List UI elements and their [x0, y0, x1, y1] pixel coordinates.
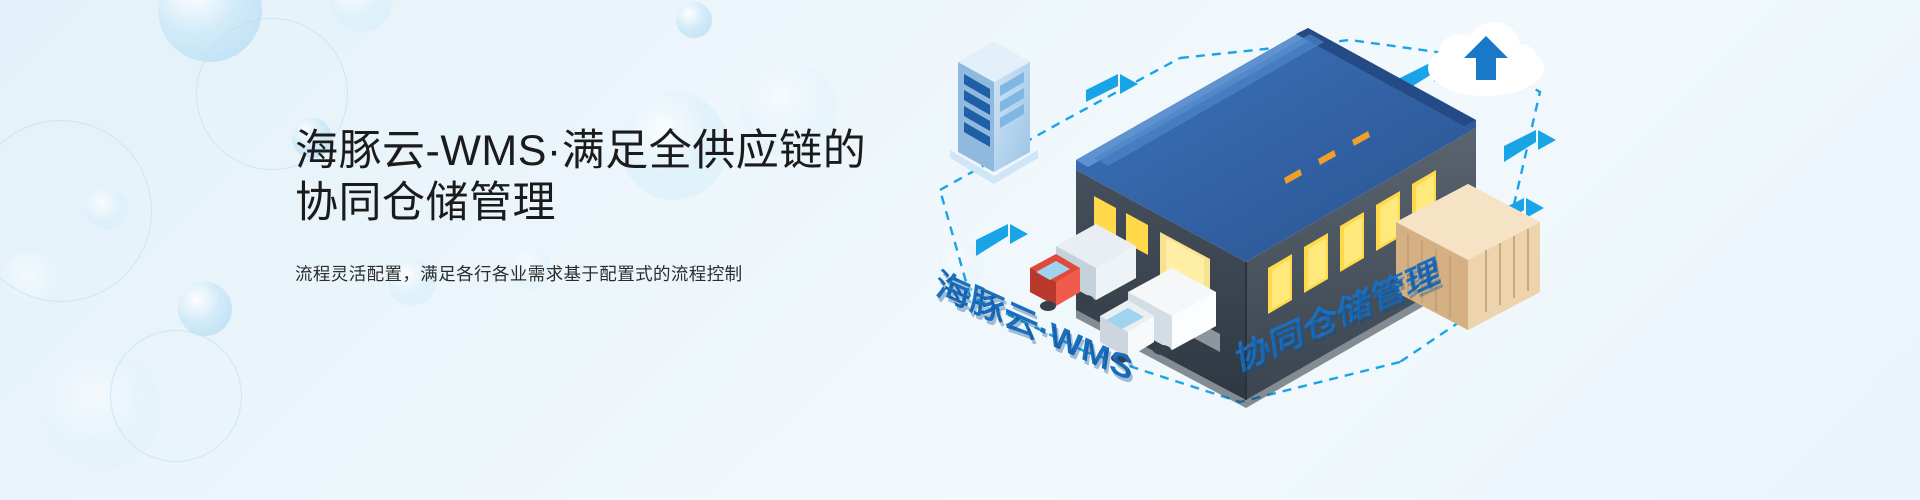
bubble-icon: [676, 2, 712, 38]
hero-copy: 海豚云-WMS·满足全供应链的 协同仓储管理 流程灵活配置，满足各行各业需求基于…: [295, 96, 915, 304]
bubble-icon: [158, 0, 262, 62]
server-rack: [950, 42, 1038, 184]
page-title: 海豚云-WMS·满足全供应链的 协同仓储管理: [295, 125, 915, 229]
bubble-icon: [44, 352, 162, 470]
page-subtitle: 流程灵活配置，满足各行各业需求基于配置式的流程控制: [295, 261, 915, 287]
bubble-icon: [0, 250, 70, 320]
bubble-icon: [178, 282, 232, 336]
bubble-outline-icon: [0, 120, 152, 302]
bubble-icon: [86, 188, 128, 230]
hero-banner: 海豚云-WMS·满足全供应链的 协同仓储管理 流程灵活配置，满足各行各业需求基于…: [0, 0, 1920, 500]
warehouse-illustration: 海豚云·WMS 海豚云·WMS 协同仓储管理 协同仓储管理: [880, 0, 1620, 500]
bubble-icon: [330, 0, 392, 32]
cloud-upload-icon: [1428, 22, 1544, 96]
bubble-outline-icon: [110, 330, 242, 462]
title-line-2: 协同仓储管理: [295, 177, 915, 229]
title-line-1: 海豚云-WMS·满足全供应链的: [295, 127, 866, 175]
